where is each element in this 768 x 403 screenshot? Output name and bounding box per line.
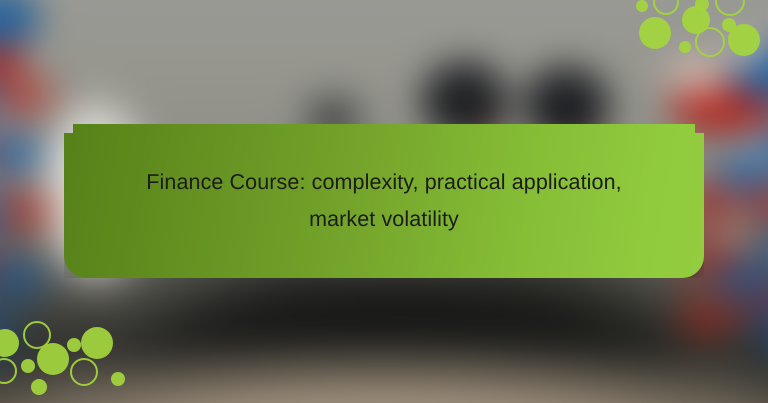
decorative-circle <box>679 41 691 53</box>
decorative-circle <box>67 338 81 352</box>
decorative-circle <box>70 358 98 386</box>
decorative-circle <box>695 27 725 57</box>
decorative-circle <box>653 0 679 15</box>
decorative-circle <box>31 379 47 395</box>
decorative-circle <box>636 0 648 12</box>
decorative-circles-top-right <box>618 0 768 92</box>
decorative-circle <box>0 329 19 357</box>
decorative-circle <box>21 359 35 373</box>
banner-canvas: Finance Course: complexity, practical ap… <box>0 0 768 403</box>
decorative-circle <box>81 327 113 359</box>
banner-title-text: Finance Course: complexity, practical ap… <box>124 164 644 238</box>
decorative-circle <box>715 0 745 16</box>
decorative-circle <box>111 372 125 386</box>
title-banner-inner: Finance Course: complexity, practical ap… <box>64 124 704 278</box>
decorative-circle <box>639 17 671 49</box>
decorative-circle <box>728 24 760 56</box>
decorative-circle <box>37 343 69 375</box>
decorative-circles-bottom-left <box>0 309 150 403</box>
decorative-circle <box>0 358 17 384</box>
title-banner: Finance Course: complexity, practical ap… <box>64 124 704 278</box>
